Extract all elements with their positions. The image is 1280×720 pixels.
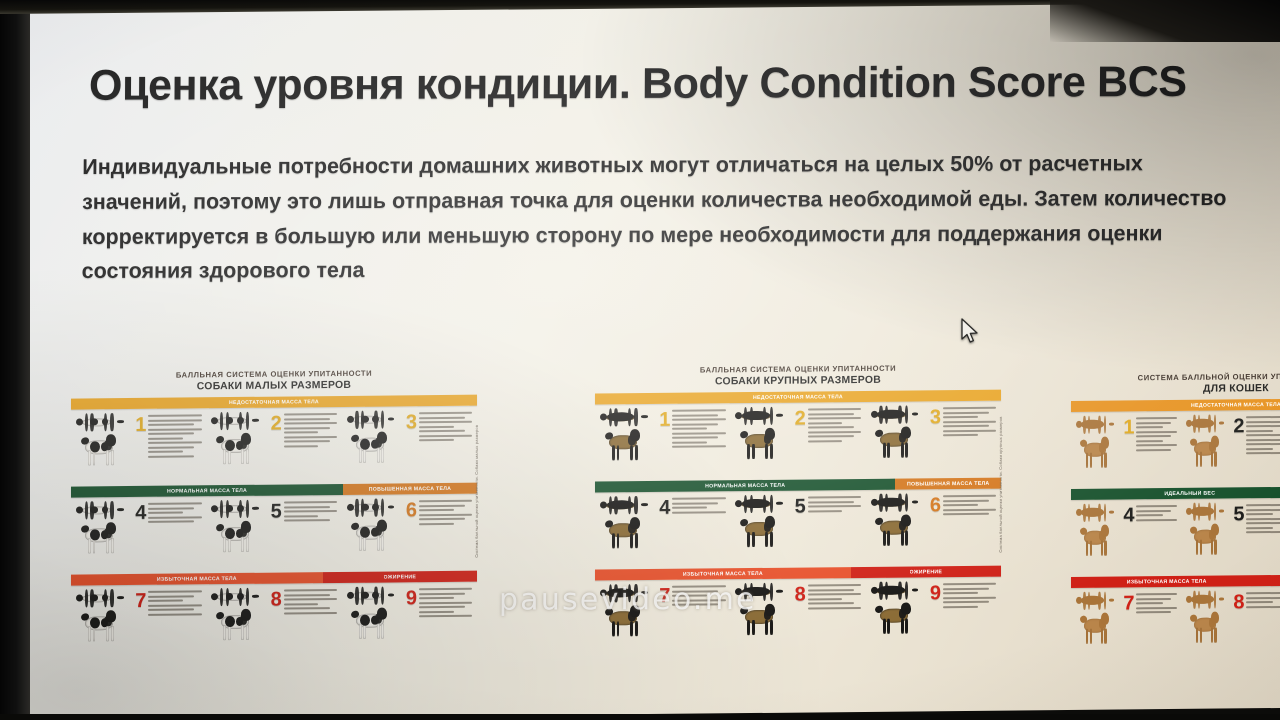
animal-illustrations xyxy=(1184,414,1233,485)
score-cell[interactable]: 5 xyxy=(1181,498,1280,573)
animal-illustrations xyxy=(869,581,930,653)
band-segment: ИЗБЫТОЧНАЯ МАССА ТЕЛА xyxy=(1071,575,1262,588)
score-number: 6 xyxy=(930,496,941,516)
score-cell[interactable]: 2 xyxy=(206,407,341,482)
band-label: ОЖИРЕНИЕ xyxy=(384,574,417,580)
poster-title: ДЛЯ КОШЕК xyxy=(1071,381,1280,398)
score-description xyxy=(419,409,475,481)
poster-title: СОБАКИ КРУПНЫХ РАЗМЕРОВ xyxy=(595,373,1001,391)
animal-top-view-icon xyxy=(76,414,124,429)
category-band: НЕДОСТАТОЧНАЯ МАССА ТЕЛА xyxy=(1071,398,1280,412)
score-number: 1 xyxy=(135,415,146,435)
animal-side-view-icon xyxy=(873,603,918,633)
animal-side-view-icon xyxy=(1078,525,1115,555)
animal-side-view-icon xyxy=(1188,436,1225,466)
animal-illustrations xyxy=(209,411,270,483)
animal-illustrations xyxy=(209,499,270,571)
score-cell[interactable]: 9 xyxy=(866,577,1001,652)
band-label: ИЗБЫТОЧНАЯ МАССА ТЕЛА xyxy=(683,571,763,578)
score-description xyxy=(1246,501,1280,572)
score-cell[interactable]: 1 xyxy=(595,404,730,479)
category-band: ИДЕАЛЬНЫЙ ВЕСВЫШЕ ИДЕАЛЬНОГО xyxy=(1071,486,1280,500)
score-number: 8 xyxy=(795,585,806,605)
animal-side-view-icon xyxy=(737,516,782,546)
animal-illustrations xyxy=(598,407,659,479)
score-number: 5 xyxy=(1233,505,1244,525)
score-row: 789 xyxy=(71,582,477,660)
score-description xyxy=(419,585,475,657)
animal-top-view-icon xyxy=(1076,505,1114,520)
score-cell[interactable]: 4 xyxy=(71,497,206,572)
poster-eyebrow: БАЛЛЬНАЯ СИСТЕМА ОЦЕНКИ УПИТАННОСТИСОБАК… xyxy=(71,368,477,396)
animal-top-view-icon xyxy=(871,407,919,422)
animal-illustrations xyxy=(209,587,270,659)
animal-illustrations xyxy=(1074,591,1123,662)
animal-illustrations xyxy=(1074,503,1123,574)
poster-cats[interactable]: СИСТЕМА БАЛЛЬНОЙ ОЦЕНКИ УПИТАННОСТИДЛЯ К… xyxy=(1071,371,1280,662)
score-description xyxy=(1136,502,1179,573)
score-cell[interactable]: 6 xyxy=(866,489,1001,564)
animal-top-view-icon xyxy=(735,496,783,511)
score-description xyxy=(148,412,204,484)
screen-bezel-left xyxy=(0,0,30,720)
score-description xyxy=(284,410,340,482)
score-row: 123 xyxy=(71,406,477,484)
animal-top-view-icon xyxy=(871,495,919,510)
poster-row: БАЛЛЬНАЯ СИСТЕМА ОЦЕНКИ УПИТАННОСТИСОБАК… xyxy=(27,350,1280,692)
score-row: 123 xyxy=(595,401,1001,479)
screen-bezel-corner xyxy=(1050,0,1280,42)
animal-illustrations xyxy=(869,405,930,477)
animal-top-view-icon xyxy=(600,585,648,600)
score-number: 4 xyxy=(135,503,146,523)
score-number: 2 xyxy=(1233,417,1244,437)
animal-side-view-icon xyxy=(1188,524,1225,554)
animal-side-view-icon xyxy=(213,433,258,463)
band-segment: ОЖИРЕНИЕ xyxy=(323,571,477,583)
score-description xyxy=(1246,589,1280,660)
score-cell[interactable]: 2 xyxy=(730,402,865,477)
band-label: ИДЕАЛЬНЫЙ ВЕС xyxy=(1164,490,1215,496)
band-label: НЕДОСТАТОЧНАЯ МАССА ТЕЛА xyxy=(229,399,319,406)
score-cell[interactable]: 7 xyxy=(1071,587,1181,662)
animal-illustrations xyxy=(1074,415,1123,486)
score-description xyxy=(284,498,340,570)
score-cell[interactable]: 3 xyxy=(866,401,1001,476)
score-description xyxy=(943,492,999,564)
projection-screen: Оценка уровня кондиции. Body Condition S… xyxy=(27,0,1280,720)
animal-side-view-icon xyxy=(78,522,123,552)
animal-top-view-icon xyxy=(735,584,783,599)
screen-bezel-bottom xyxy=(0,714,1280,720)
animal-top-view-icon xyxy=(347,412,395,427)
slide-content: Оценка уровня кондиции. Body Condition S… xyxy=(27,0,1280,720)
animal-top-view-icon xyxy=(1076,417,1114,432)
score-cell[interactable]: 4 xyxy=(595,492,730,567)
animal-top-view-icon xyxy=(347,500,395,515)
animal-illustrations xyxy=(598,495,659,567)
animal-side-view-icon xyxy=(78,610,123,640)
score-number: 4 xyxy=(659,498,670,518)
score-description xyxy=(1136,590,1179,661)
animal-illustrations xyxy=(733,494,794,566)
score-row: 789 xyxy=(595,577,1001,655)
score-cell[interactable]: 9 xyxy=(342,582,477,657)
animal-side-view-icon xyxy=(1188,612,1225,642)
band-segment: ПОВЫШЕННАЯ МАССА ТЕЛА xyxy=(895,478,1001,490)
poster-title: СОБАКИ МАЛЫХ РАЗМЕРОВ xyxy=(71,378,477,396)
score-cell[interactable]: 1 xyxy=(1071,411,1181,486)
band-label: НОРМАЛЬНАЯ МАССА ТЕЛА xyxy=(167,488,247,495)
slide-paragraph: Индивидуальные потребности домашних живо… xyxy=(82,146,1233,289)
score-number: 6 xyxy=(406,501,417,521)
animal-top-view-icon xyxy=(347,588,395,603)
animal-side-view-icon xyxy=(602,605,647,635)
band-label: ОЖИРЕНИЕ xyxy=(910,569,943,575)
score-description xyxy=(808,405,864,477)
animal-top-view-icon xyxy=(600,409,648,424)
poster-side-note: Система балльной оценки упитанности. Соб… xyxy=(998,403,1003,553)
slide-title: Оценка уровня кондиции. Body Condition S… xyxy=(89,60,1279,110)
score-cell[interactable]: 7 xyxy=(595,580,730,655)
score-number: 9 xyxy=(406,589,417,609)
score-row: 456 xyxy=(595,489,1001,567)
score-description xyxy=(808,493,864,565)
score-number: 7 xyxy=(659,586,670,606)
animal-illustrations xyxy=(74,500,135,572)
score-number: 5 xyxy=(795,497,806,517)
score-number: 8 xyxy=(1233,593,1244,613)
animal-top-view-icon xyxy=(735,408,783,423)
score-cell[interactable]: 2 xyxy=(1181,410,1280,485)
score-cell[interactable]: 6 xyxy=(342,494,477,569)
score-description xyxy=(284,586,340,658)
band-label: ПОВЫШЕННАЯ МАССА ТЕЛА xyxy=(907,481,989,488)
poster-small-dogs[interactable]: БАЛЛЬНАЯ СИСТЕМА ОЦЕНКИ УПИТАННОСТИСОБАК… xyxy=(71,368,477,660)
score-description xyxy=(1136,414,1179,485)
animal-side-view-icon xyxy=(213,609,258,639)
animal-side-view-icon xyxy=(873,515,918,545)
poster-eyebrow: СИСТЕМА БАЛЛЬНОЙ ОЦЕНКИ УПИТАННОСТИДЛЯ К… xyxy=(1071,371,1280,398)
animal-side-view-icon xyxy=(349,520,394,550)
animal-side-view-icon xyxy=(873,427,918,457)
animal-top-view-icon xyxy=(1186,504,1224,519)
animal-side-view-icon xyxy=(602,429,647,459)
score-number: 9 xyxy=(930,584,941,604)
score-cell[interactable]: 5 xyxy=(206,495,341,570)
animal-top-view-icon xyxy=(211,589,259,604)
score-number: 8 xyxy=(271,590,282,610)
animal-top-view-icon xyxy=(76,590,124,605)
animal-side-view-icon xyxy=(602,517,647,547)
score-row: 789 xyxy=(1071,585,1280,662)
score-description xyxy=(148,588,204,660)
poster-side-note: Система балльной оценки упитанности. Соб… xyxy=(474,408,479,558)
animal-illustrations xyxy=(598,583,659,655)
score-description xyxy=(943,404,999,476)
animal-illustrations xyxy=(733,406,794,478)
score-description xyxy=(1246,413,1280,484)
animal-side-view-icon xyxy=(1078,613,1115,643)
photographed-screen-stage: Оценка уровня кондиции. Body Condition S… xyxy=(0,0,1280,720)
animal-top-view-icon xyxy=(76,502,124,517)
score-description xyxy=(672,583,728,655)
band-label: ИЗБЫТОЧНАЯ МАССА ТЕЛА xyxy=(157,576,237,583)
band-label: НЕДОСТАТОЧНАЯ МАССА ТЕЛА xyxy=(753,394,843,401)
score-cell[interactable]: 5 xyxy=(730,490,865,565)
animal-side-view-icon xyxy=(737,428,782,458)
animal-illustrations xyxy=(1184,590,1233,661)
animal-side-view-icon xyxy=(213,521,258,551)
band-segment: ОЖИРЕНИЕ xyxy=(1262,574,1280,586)
band-segment: ОЖИРЕНИЕ xyxy=(851,566,1001,578)
animal-side-view-icon xyxy=(349,432,394,462)
animal-illustrations xyxy=(74,412,135,484)
poster-large-dogs[interactable]: БАЛЛЬНАЯ СИСТЕМА ОЦЕНКИ УПИТАННОСТИСОБАК… xyxy=(595,363,1001,655)
score-number: 3 xyxy=(406,413,417,433)
animal-illustrations xyxy=(345,498,406,570)
score-row: 123 xyxy=(1071,409,1280,486)
animal-top-view-icon xyxy=(211,413,259,428)
animal-illustrations xyxy=(869,493,930,565)
score-number: 4 xyxy=(1123,506,1134,526)
animal-illustrations xyxy=(74,588,135,660)
animal-top-view-icon xyxy=(1076,593,1114,608)
animal-illustrations xyxy=(733,582,794,654)
band-label: НОРМАЛЬНАЯ МАССА ТЕЛА xyxy=(705,483,785,490)
score-cell[interactable]: 7 xyxy=(71,585,206,660)
animal-illustrations xyxy=(345,410,406,482)
animal-top-view-icon xyxy=(1186,416,1224,431)
score-number: 2 xyxy=(271,414,282,434)
score-number: 3 xyxy=(930,408,941,428)
score-number: 1 xyxy=(659,410,670,430)
score-cell[interactable]: 8 xyxy=(1181,586,1280,661)
band-label: НЕДОСТАТОЧНАЯ МАССА ТЕЛА xyxy=(1191,402,1280,409)
band-segment: ПОВЫШЕННАЯ МАССА ТЕЛА xyxy=(343,483,477,495)
animal-top-view-icon xyxy=(1186,592,1224,607)
score-cell[interactable]: 4 xyxy=(1071,499,1181,574)
score-description xyxy=(672,495,728,567)
band-segment: НЕДОСТАТОЧНАЯ МАССА ТЕЛА xyxy=(1071,398,1280,412)
category-band: ИЗБЫТОЧНАЯ МАССА ТЕЛАОЖИРЕНИЕ xyxy=(1071,574,1280,588)
score-description xyxy=(672,407,728,479)
mouse-cursor-icon xyxy=(960,318,980,344)
band-label: ПОВЫШЕННАЯ МАССА ТЕЛА xyxy=(369,486,451,493)
score-description xyxy=(148,500,204,572)
score-cell[interactable]: 8 xyxy=(730,578,865,653)
band-segment: ИДЕАЛЬНЫЙ ВЕС xyxy=(1071,487,1280,500)
score-description xyxy=(419,497,475,569)
score-cell[interactable]: 8 xyxy=(206,583,341,658)
score-description xyxy=(808,581,864,653)
score-row: 456 xyxy=(1071,497,1280,574)
band-label: ИЗБЫТОЧНАЯ МАССА ТЕЛА xyxy=(1127,578,1207,585)
animal-top-view-icon xyxy=(600,497,648,512)
score-row: 456 xyxy=(71,494,477,572)
animal-top-view-icon xyxy=(211,501,259,516)
animal-side-view-icon xyxy=(349,608,394,638)
animal-side-view-icon xyxy=(1078,437,1115,467)
score-cell[interactable]: 1 xyxy=(71,409,206,484)
score-number: 7 xyxy=(135,591,146,611)
score-description xyxy=(943,580,999,652)
animal-illustrations xyxy=(345,586,406,658)
animal-side-view-icon xyxy=(737,604,782,634)
animal-top-view-icon xyxy=(871,583,919,598)
animal-illustrations xyxy=(1184,502,1233,573)
score-number: 5 xyxy=(271,502,282,522)
animal-side-view-icon xyxy=(78,434,123,464)
score-number: 1 xyxy=(1123,418,1134,438)
score-cell[interactable]: 3 xyxy=(342,406,477,481)
score-number: 2 xyxy=(795,409,806,429)
poster-eyebrow: БАЛЛЬНАЯ СИСТЕМА ОЦЕНКИ УПИТАННОСТИСОБАК… xyxy=(595,363,1001,391)
score-number: 7 xyxy=(1123,594,1134,614)
